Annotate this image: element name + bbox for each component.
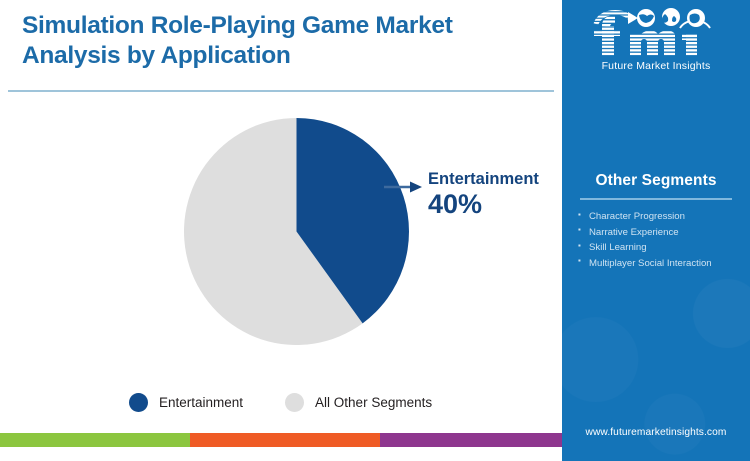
callout-entertainment: Entertainment 40% [384,170,560,232]
legend-item-all-other-segments: All Other Segments [285,393,432,412]
legend-label: Entertainment [159,395,243,410]
logo-tagline: Future Market Insights [562,60,750,72]
strip-segment-orange [190,433,380,447]
pie-chart-svg [184,118,409,345]
callout-value: 40% [428,189,539,220]
bottom-color-strip [0,433,562,447]
legend-swatch-icon [285,393,304,412]
strip-segment-purple [380,433,562,447]
infographic-canvas: Simulation Role-Playing Game Market Anal… [0,0,750,461]
fmi-logo[interactable]: Future Market Insights [562,6,750,72]
strip-segment-green [0,433,190,447]
page-title: Simulation Role-Playing Game Market Anal… [22,11,542,71]
pie-chart [184,118,409,345]
list-item: Skill Learning [578,240,744,256]
website-url[interactable]: www.futuremarketinsights.com [562,427,750,438]
header-divider [8,90,554,92]
list-item: Character Progression [578,209,744,225]
legend-swatch-icon [129,393,148,412]
title-block: Simulation Role-Playing Game Market Anal… [22,11,542,71]
list-item: Multiplayer Social Interaction [578,256,744,272]
arrow-right-icon [384,180,424,194]
brand-sidebar: Future Market Insights Other Segments Ch… [562,0,750,461]
other-segments-list: Character Progression Narrative Experien… [562,209,750,271]
fmi-logo-icon [586,6,726,58]
callout-label: Entertainment [428,170,539,188]
main-content-area: Simulation Role-Playing Game Market Anal… [0,0,562,447]
other-segments-panel: Other Segments Character Progression Nar… [562,172,750,271]
other-segments-heading: Other Segments [562,172,750,190]
other-segments-divider [580,198,732,200]
legend-item-entertainment: Entertainment [129,393,243,412]
legend-label: All Other Segments [315,395,432,410]
callout-text-group: Entertainment 40% [428,170,539,220]
list-item: Narrative Experience [578,225,744,241]
chart-legend: Entertainment All Other Segments [129,393,432,412]
